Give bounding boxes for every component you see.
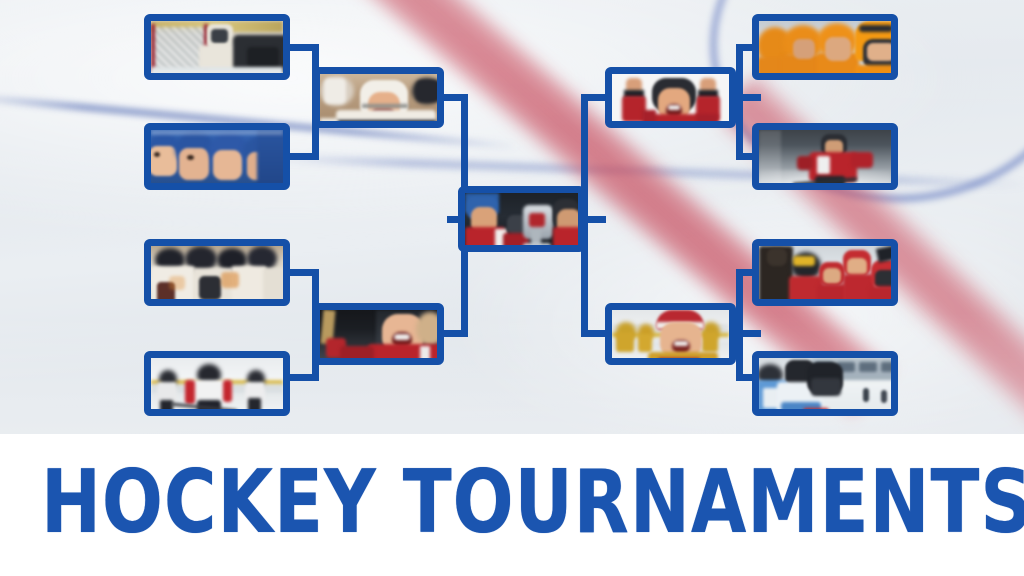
bracket-node-skater-red-white[interactable] (144, 351, 290, 416)
bracket-node-celebrating-white-helmet[interactable] (313, 67, 444, 128)
page-title: HOCKEY TOURNAMENTS (41, 455, 983, 551)
photo-cheering-child-red (612, 74, 729, 121)
bracket-node-championship-trophy[interactable] (458, 186, 585, 252)
bracket-node-orange-team-lineup[interactable] (752, 14, 898, 80)
bracket-node-player-number-20[interactable] (752, 351, 898, 416)
bracket-node-coach-red-huddle[interactable] (752, 239, 898, 306)
photo-bench-blue-helmets (151, 130, 283, 183)
photo-team-huddle-white (151, 246, 283, 299)
photo-skater-red-white (151, 358, 283, 409)
bracket-node-bench-blue-helmets[interactable] (144, 123, 290, 190)
bracket-node-skater-number-9[interactable] (752, 123, 898, 190)
title-band: HOCKEY TOURNAMENTS (0, 434, 1024, 576)
bracket-node-goalie-in-crease[interactable] (144, 14, 290, 80)
photo-celebrating-white-helmet (320, 74, 437, 121)
bracket-node-screaming-girl-red[interactable] (313, 303, 444, 365)
bracket-node-smiling-child-yellow[interactable] (605, 303, 736, 365)
photo-championship-trophy (465, 193, 578, 245)
photo-goalie-in-crease (151, 21, 283, 73)
photo-player-number-20 (759, 358, 891, 409)
hockey-tournament-bracket-poster: HOCKEY TOURNAMENTS (0, 0, 1024, 576)
photo-orange-team-lineup (759, 21, 891, 73)
photo-coach-red-huddle (759, 246, 891, 299)
bracket-node-team-huddle-white[interactable] (144, 239, 290, 306)
bracket-node-cheering-child-red[interactable] (605, 67, 736, 128)
photo-screaming-girl-red (320, 310, 437, 358)
photo-smiling-child-yellow (612, 310, 729, 358)
photo-skater-number-9 (759, 130, 891, 183)
